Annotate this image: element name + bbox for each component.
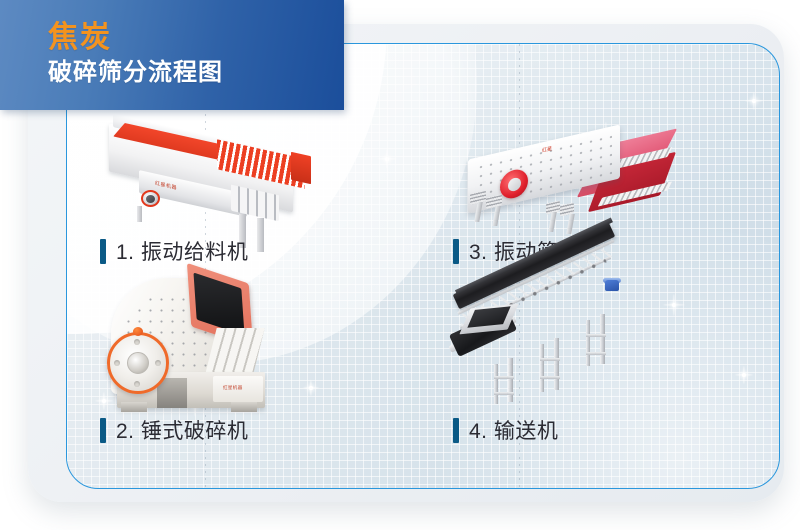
header-banner: 焦炭 破碎筛分流程图 [0,0,344,110]
flow-item-label: 4. 输送机 [453,415,558,445]
flow-item-vibrating-feeder[interactable]: 红星机器 1. 振动给料机 [97,128,397,278]
flow-item-label-text: 1. 振动给料机 [116,236,248,266]
flow-item-hammer-crusher[interactable]: 红星机器 2. 锤式破碎机 [97,272,397,447]
flow-item-label: 2. 锤式破碎机 [100,415,248,445]
sparkle-icon [745,92,763,110]
banner-title: 焦炭 [48,22,223,54]
banner-subtitle: 破碎筛分流程图 [48,60,223,86]
flow-item-belt-conveyor[interactable]: 4. 输送机 [450,272,750,447]
belt-conveyor-icon [450,272,650,407]
banner-text-group: 焦炭 破碎筛分流程图 [48,22,223,86]
vibrating-feeder-icon: 红星机器 [105,130,317,230]
crusher-brand-logo: 红星机器 [223,385,243,391]
flow-item-label-text: 4. 输送机 [469,415,558,445]
coke-crushing-screening-flowchart: 红星机器 1. 振动给料机 红星机器 [0,0,800,530]
flow-item-label-text: 2. 锤式破碎机 [116,415,248,445]
label-accent-bar [453,239,459,264]
label-accent-bar [100,239,106,264]
flow-item-label: 1. 振动给料机 [100,236,248,266]
label-accent-bar [100,418,106,443]
hammer-crusher-icon: 红星机器 [103,272,283,417]
vibrating-screen-icon: 红星 [450,132,680,238]
label-accent-bar [453,418,459,443]
